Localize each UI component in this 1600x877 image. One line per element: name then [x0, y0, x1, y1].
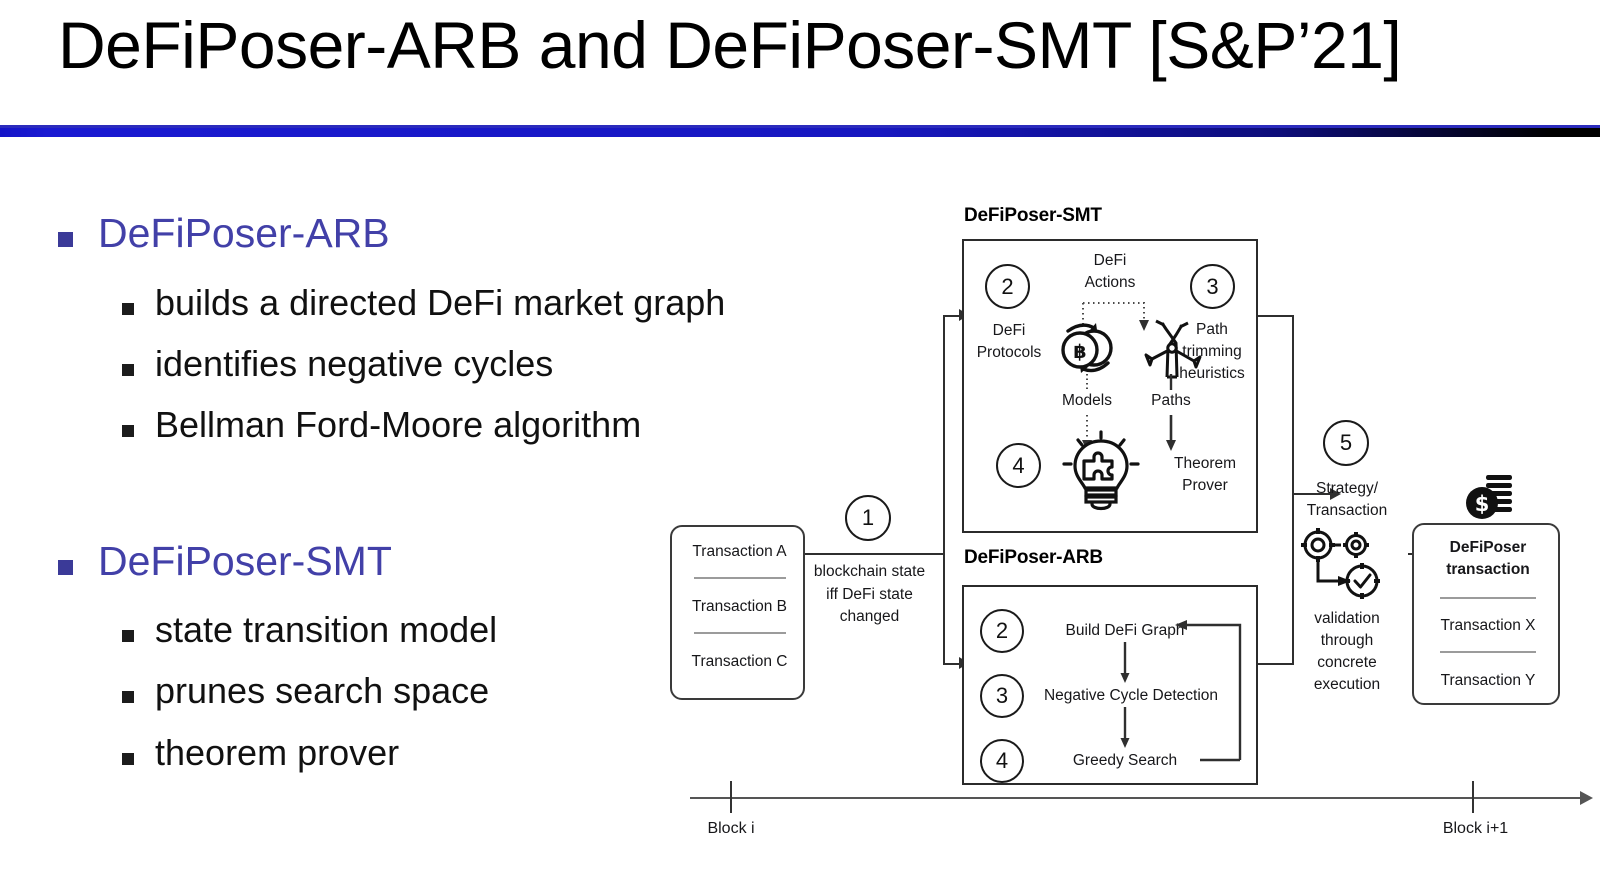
bullet-square-icon [122, 303, 134, 315]
paths-arrow-icon [1164, 415, 1180, 455]
sub-bullet-label: identifies negative cycles [155, 345, 553, 383]
bullet-label: DeFiPoser-SMT [98, 540, 392, 583]
bullet-label: DeFiPoser-ARB [98, 212, 390, 255]
title-rule [0, 128, 1600, 137]
step-1-caption-line2: iff DeFi state [802, 586, 937, 604]
svg-text:$: $ [1475, 492, 1490, 516]
divider [694, 577, 786, 579]
smt-output-line [1258, 315, 1294, 317]
bullet-square-icon [58, 560, 73, 575]
smt-step-4-badge: 4 [996, 443, 1041, 488]
arb-step-4-badge: 4 [980, 739, 1024, 783]
lightbulb-puzzle-icon [1058, 431, 1144, 513]
step-5-caption-line3: concrete [1284, 654, 1410, 672]
coins-cycle-icon: ฿ [1050, 317, 1122, 381]
divider [694, 632, 786, 634]
gears-validation-icon [1294, 527, 1404, 605]
bullet-square-icon [122, 630, 134, 642]
sub-bullet-smt-1: state transition model [122, 611, 497, 649]
sub-bullet-label: builds a directed DeFi market graph [155, 284, 725, 322]
models-label: Models [1045, 392, 1129, 410]
sub-bullet-label: Bellman Ford-Moore algorithm [155, 406, 641, 444]
output-title-line2: transaction [1414, 561, 1562, 579]
sub-bullet-arb-1: builds a directed DeFi market graph [122, 284, 725, 322]
step-5-caption-line4: execution [1284, 676, 1410, 694]
connector-vertical-split [943, 315, 945, 665]
models-stem-icon [1084, 374, 1090, 390]
coin-stack-dollar-icon: $ [1460, 473, 1520, 525]
timeline-tick-end [1472, 781, 1474, 813]
step-1-caption-line3: changed [802, 608, 937, 626]
paths-label: Paths [1135, 392, 1207, 410]
tx-row-c: Transaction C [672, 653, 807, 671]
arb-arrow-1-icon [1118, 642, 1134, 686]
defi-actions-line2: Actions [1060, 274, 1160, 292]
timeline-arrowhead-icon [1578, 789, 1598, 807]
step-5-title-line2: Transaction [1282, 502, 1412, 520]
timeline-start-label: Block i [676, 820, 786, 839]
bullet-square-icon [122, 753, 134, 765]
defi-actions-line1: DeFi [1060, 252, 1160, 270]
divider [1440, 651, 1536, 653]
divider [1440, 597, 1536, 599]
page-title: DeFiPoser-ARB and DeFiPoser-SMT [S&P’21] [58, 8, 1558, 84]
step-5-caption-line1: validation [1284, 610, 1410, 628]
smt-step-2-badge: 2 [985, 264, 1030, 309]
bullet-group-smt: DeFiPoser-SMT [58, 540, 392, 583]
transaction-input-box: Transaction A Transaction B Transaction … [670, 525, 805, 700]
arb-step-2-badge: 2 [980, 609, 1024, 653]
output-row-y: Transaction Y [1414, 672, 1562, 690]
step-5-badge: 5 [1323, 420, 1369, 466]
step-5-title-line1: Strategy/ [1282, 480, 1412, 498]
arb-header: DeFiPoser-ARB [964, 547, 1103, 569]
smt-step-3-badge: 3 [1190, 264, 1235, 309]
timeline-axis [690, 797, 1585, 799]
sub-bullet-arb-3: Bellman Ford-Moore algorithm [122, 406, 641, 444]
output-transaction-box: DeFiPoser transaction Transaction X Tran… [1412, 523, 1560, 705]
tx-row-a: Transaction A [672, 543, 807, 561]
sub-bullet-label: prunes search space [155, 672, 489, 710]
bullet-square-icon [122, 691, 134, 703]
timeline-tick-start [730, 781, 732, 813]
theorem-prover-line1: Theorem [1152, 455, 1258, 473]
step-1-badge: 1 [845, 495, 891, 541]
theorem-prover-line2: Prover [1152, 477, 1258, 495]
bullet-square-icon [122, 425, 134, 437]
output-title-line1: DeFiPoser [1414, 539, 1562, 557]
svg-text:฿: ฿ [1073, 341, 1086, 363]
smt-step-2-label-line1: DeFi [965, 322, 1053, 340]
smt-step-2-label-line2: Protocols [965, 344, 1053, 362]
bullet-group-arb: DeFiPoser-ARB [58, 212, 390, 255]
sub-bullet-label: theorem prover [155, 734, 399, 772]
tx-row-b: Transaction B [672, 598, 807, 616]
arb-step-3-badge: 3 [980, 674, 1024, 718]
sub-bullet-smt-3: theorem prover [122, 734, 399, 772]
arb-arrow-2-icon [1118, 707, 1134, 751]
step-1-caption-line1: blockchain state [802, 563, 937, 581]
paths-stem-icon [1168, 374, 1174, 390]
sub-bullet-label: state transition model [155, 611, 497, 649]
bullet-square-icon [122, 364, 134, 376]
output-row-x: Transaction X [1414, 617, 1562, 635]
connector-from-tx [805, 553, 945, 555]
architecture-diagram: Transaction A Transaction B Transaction … [660, 195, 1600, 855]
smt-header: DeFiPoser-SMT [964, 205, 1102, 227]
sub-bullet-arb-2: identifies negative cycles [122, 345, 553, 383]
timeline-end-label: Block i+1 [1418, 820, 1533, 839]
arb-feedback-loop-icon [1160, 615, 1252, 767]
step-5-caption-line2: through [1284, 632, 1410, 650]
bullet-square-icon [58, 232, 73, 247]
sub-bullet-smt-2: prunes search space [122, 672, 489, 710]
